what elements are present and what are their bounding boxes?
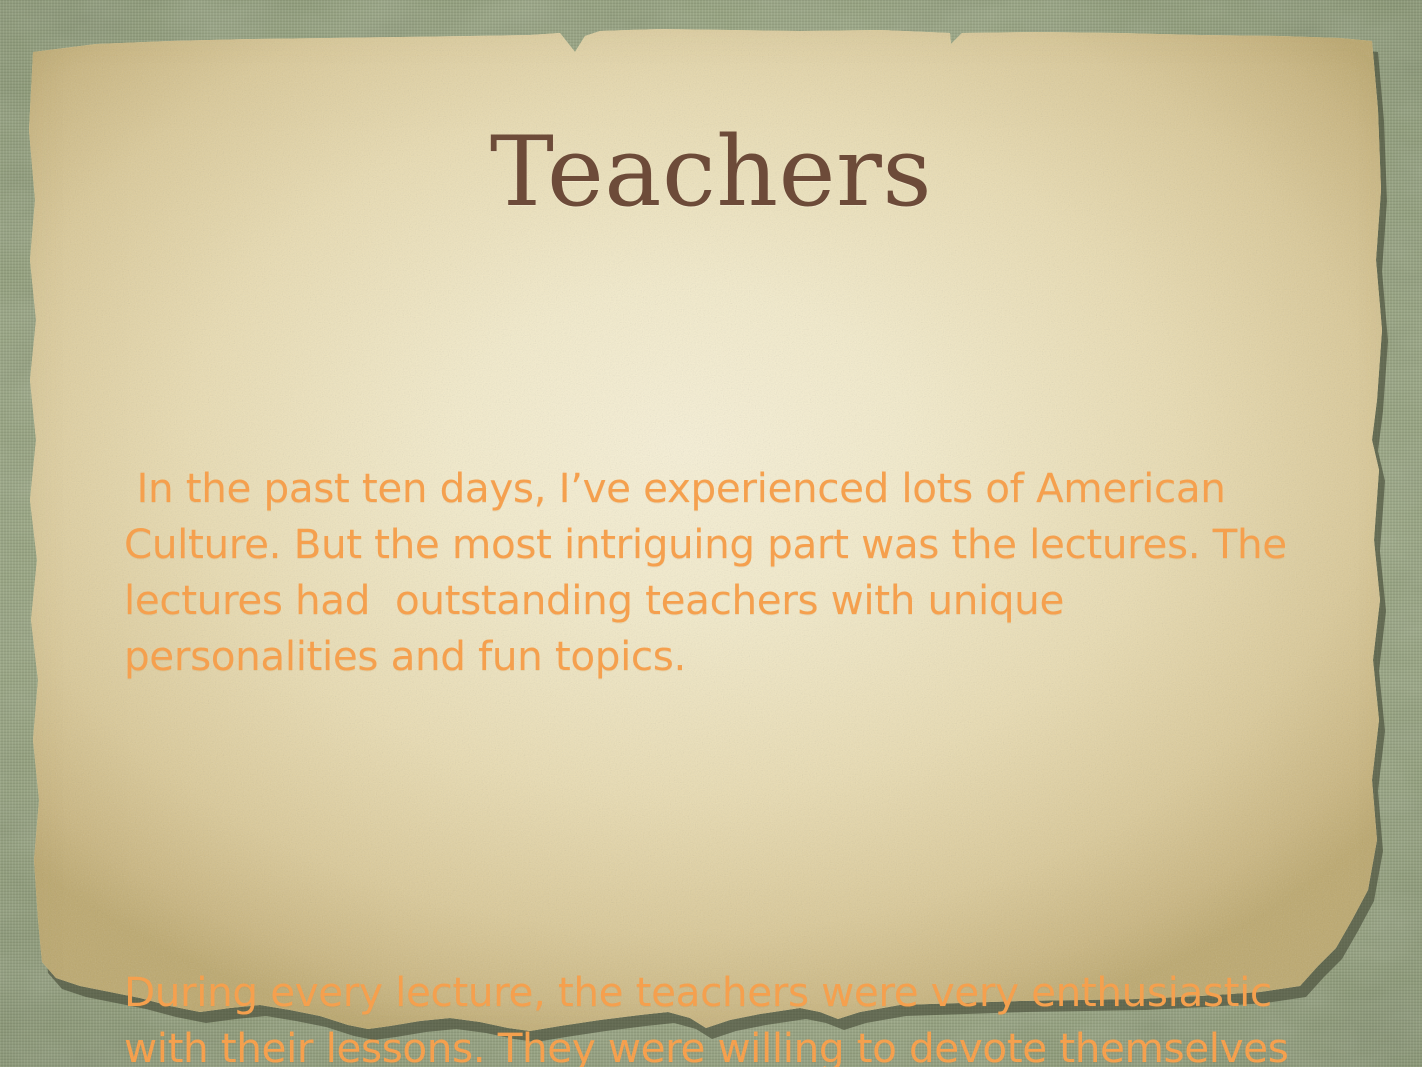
body-paragraph-2: During every lecture, the teachers were … bbox=[124, 964, 1314, 1067]
body-paragraph-1: In the past ten days, I’ve experienced l… bbox=[124, 460, 1314, 684]
slide-title: Teachers bbox=[0, 122, 1422, 223]
slide-canvas: Teachers In the past ten days, I’ve expe… bbox=[0, 0, 1422, 1067]
slide-content: Teachers In the past ten days, I’ve expe… bbox=[0, 0, 1422, 1067]
slide-body: In the past ten days, I’ve experienced l… bbox=[124, 348, 1314, 1067]
paragraph-spacer bbox=[124, 796, 1314, 852]
